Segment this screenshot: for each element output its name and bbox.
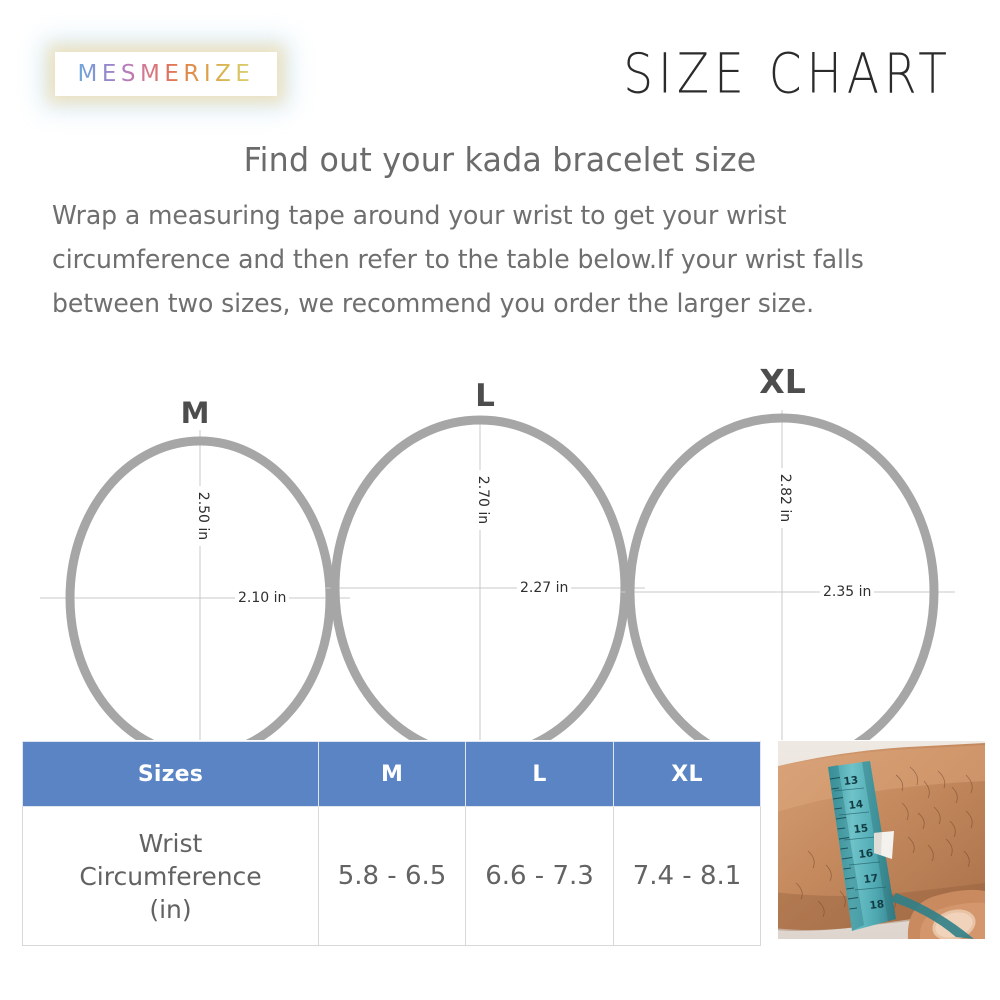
cell-wrist-xl: 7.4 - 8.1 bbox=[614, 807, 761, 946]
ring-height-label-xl: 2.82 in bbox=[777, 468, 793, 528]
page-title: SIZE CHART bbox=[623, 42, 952, 107]
row-label-line-3: (in) bbox=[24, 893, 317, 926]
tape-mark-13: 13 bbox=[843, 774, 859, 788]
bracelet-diagram: M 2.50 in 2.10 in L 2.70 in 2.27 in XL 2… bbox=[0, 340, 1000, 740]
row-label-wrist-circumference: Wrist Circumference (in) bbox=[23, 807, 319, 946]
ring-group-m: M 2.50 in 2.10 in bbox=[40, 370, 350, 740]
table-row: Wrist Circumference (in) 5.8 - 6.5 6.6 -… bbox=[23, 807, 761, 946]
intro-heading: Find out your kada bracelet size bbox=[20, 140, 980, 179]
wrist-measuring-photo: 13 14 15 16 17 18 bbox=[778, 741, 985, 939]
table-header-row: Sizes M L XL bbox=[23, 742, 761, 807]
intro-paragraph: Wrap a measuring tape around your wrist … bbox=[52, 195, 935, 327]
ring-svg-l bbox=[325, 350, 645, 740]
ring-svg-m bbox=[40, 370, 350, 740]
tape-mark-18: 18 bbox=[869, 898, 885, 912]
cell-wrist-m: 5.8 - 6.5 bbox=[319, 807, 466, 946]
ring-group-l: L 2.70 in 2.27 in bbox=[325, 350, 645, 740]
tape-mark-17: 17 bbox=[863, 872, 879, 886]
ring-width-label-l: 2.27 in bbox=[517, 580, 571, 596]
tape-mark-14: 14 bbox=[848, 798, 864, 812]
table-header-sizes: Sizes bbox=[23, 742, 319, 807]
table-header-l: L bbox=[466, 742, 614, 807]
row-label-line-2: Circumference bbox=[24, 860, 317, 893]
page-header: MESMERIZE SIZE CHART bbox=[0, 0, 1000, 130]
ring-height-label-l: 2.70 in bbox=[475, 470, 491, 530]
row-label-line-1: Wrist bbox=[24, 827, 317, 860]
tape-mark-15: 15 bbox=[853, 822, 869, 836]
ring-group-xl: XL 2.82 in 2.35 in bbox=[620, 340, 955, 740]
ring-svg-xl bbox=[620, 340, 955, 740]
intro-section: Find out your kada bracelet size Wrap a … bbox=[0, 140, 1000, 327]
cell-wrist-l: 6.6 - 7.3 bbox=[466, 807, 614, 946]
ring-width-label-m: 2.10 in bbox=[235, 590, 289, 606]
tape-mark-16: 16 bbox=[858, 847, 874, 861]
wrist-photo-illustration: 13 14 15 16 17 18 bbox=[778, 741, 985, 939]
size-table: Sizes M L XL Wrist Circumference (in) 5.… bbox=[22, 741, 761, 946]
table-header-m: M bbox=[319, 742, 466, 807]
brand-logo: MESMERIZE bbox=[55, 52, 277, 96]
brand-logo-text: MESMERIZE bbox=[78, 61, 255, 87]
ring-width-label-xl: 2.35 in bbox=[820, 584, 874, 600]
table-header-xl: XL bbox=[614, 742, 761, 807]
ring-height-label-m: 2.50 in bbox=[195, 486, 211, 546]
